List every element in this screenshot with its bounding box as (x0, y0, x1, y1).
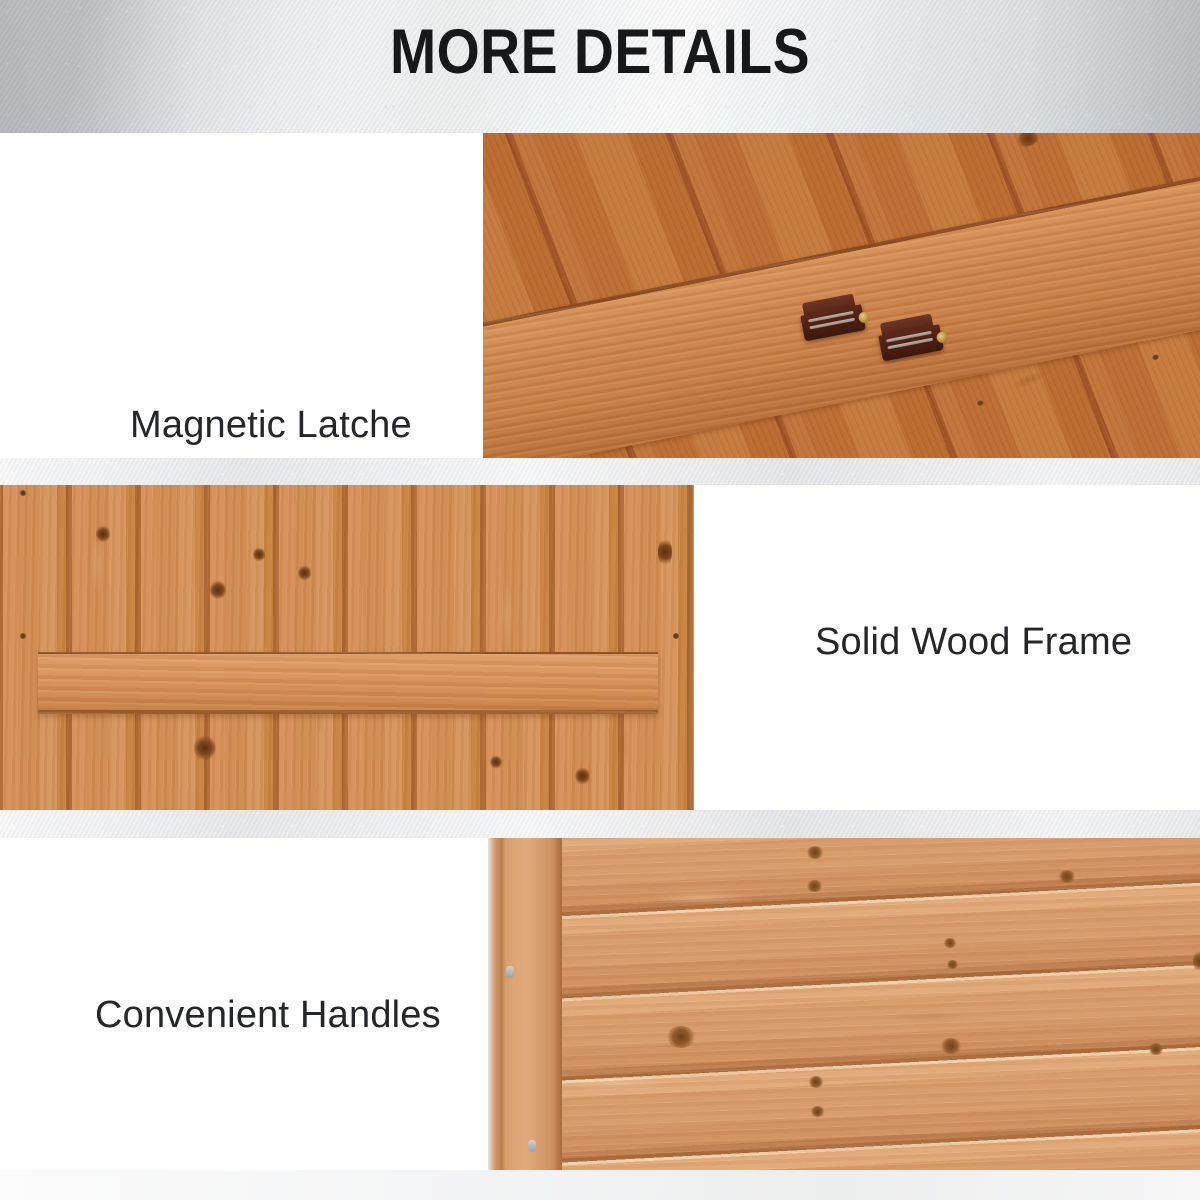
horizontal-cross-brace-rail (38, 652, 658, 714)
caption-magnetic-latch: Magnetic Latche (130, 403, 412, 449)
section-magnetic-latch-text-panel: Magnetic Latche (0, 133, 483, 458)
divider-band-2 (0, 810, 1200, 838)
header-band: MORE DETAILS (0, 0, 1200, 133)
screw-head (1151, 354, 1159, 361)
door-frame-edge-left (488, 838, 502, 1170)
photo-magnetic-latch (483, 133, 1200, 458)
divider-texture (0, 458, 1200, 485)
door-frame-stile-left (500, 838, 562, 1170)
page-title: MORE DETAILS (72, 14, 1128, 90)
vertical-planks (0, 485, 694, 810)
rail-grain (38, 652, 658, 714)
caption-convenient-handles: Convenient Handles (95, 993, 441, 1039)
caption-solid-wood-frame: Solid Wood Frame (815, 620, 1132, 666)
divider-texture (0, 810, 1200, 838)
footer-band (0, 1170, 1200, 1200)
photo-convenient-handles (488, 838, 1200, 1170)
section-convenient-handles-text-panel: Convenient Handles (0, 838, 488, 1170)
screw-head (976, 400, 984, 407)
product-detail-infographic: MORE DETAILS Magnetic Latche (0, 0, 1200, 1200)
section-solid-wood-frame-text-panel: Solid Wood Frame (694, 485, 1200, 810)
wood-knot (1013, 133, 1043, 150)
rail-face (38, 652, 658, 714)
lap-siding-planks (488, 838, 1200, 1170)
divider-band-1 (0, 458, 1200, 485)
photo-solid-wood-frame (0, 485, 694, 810)
